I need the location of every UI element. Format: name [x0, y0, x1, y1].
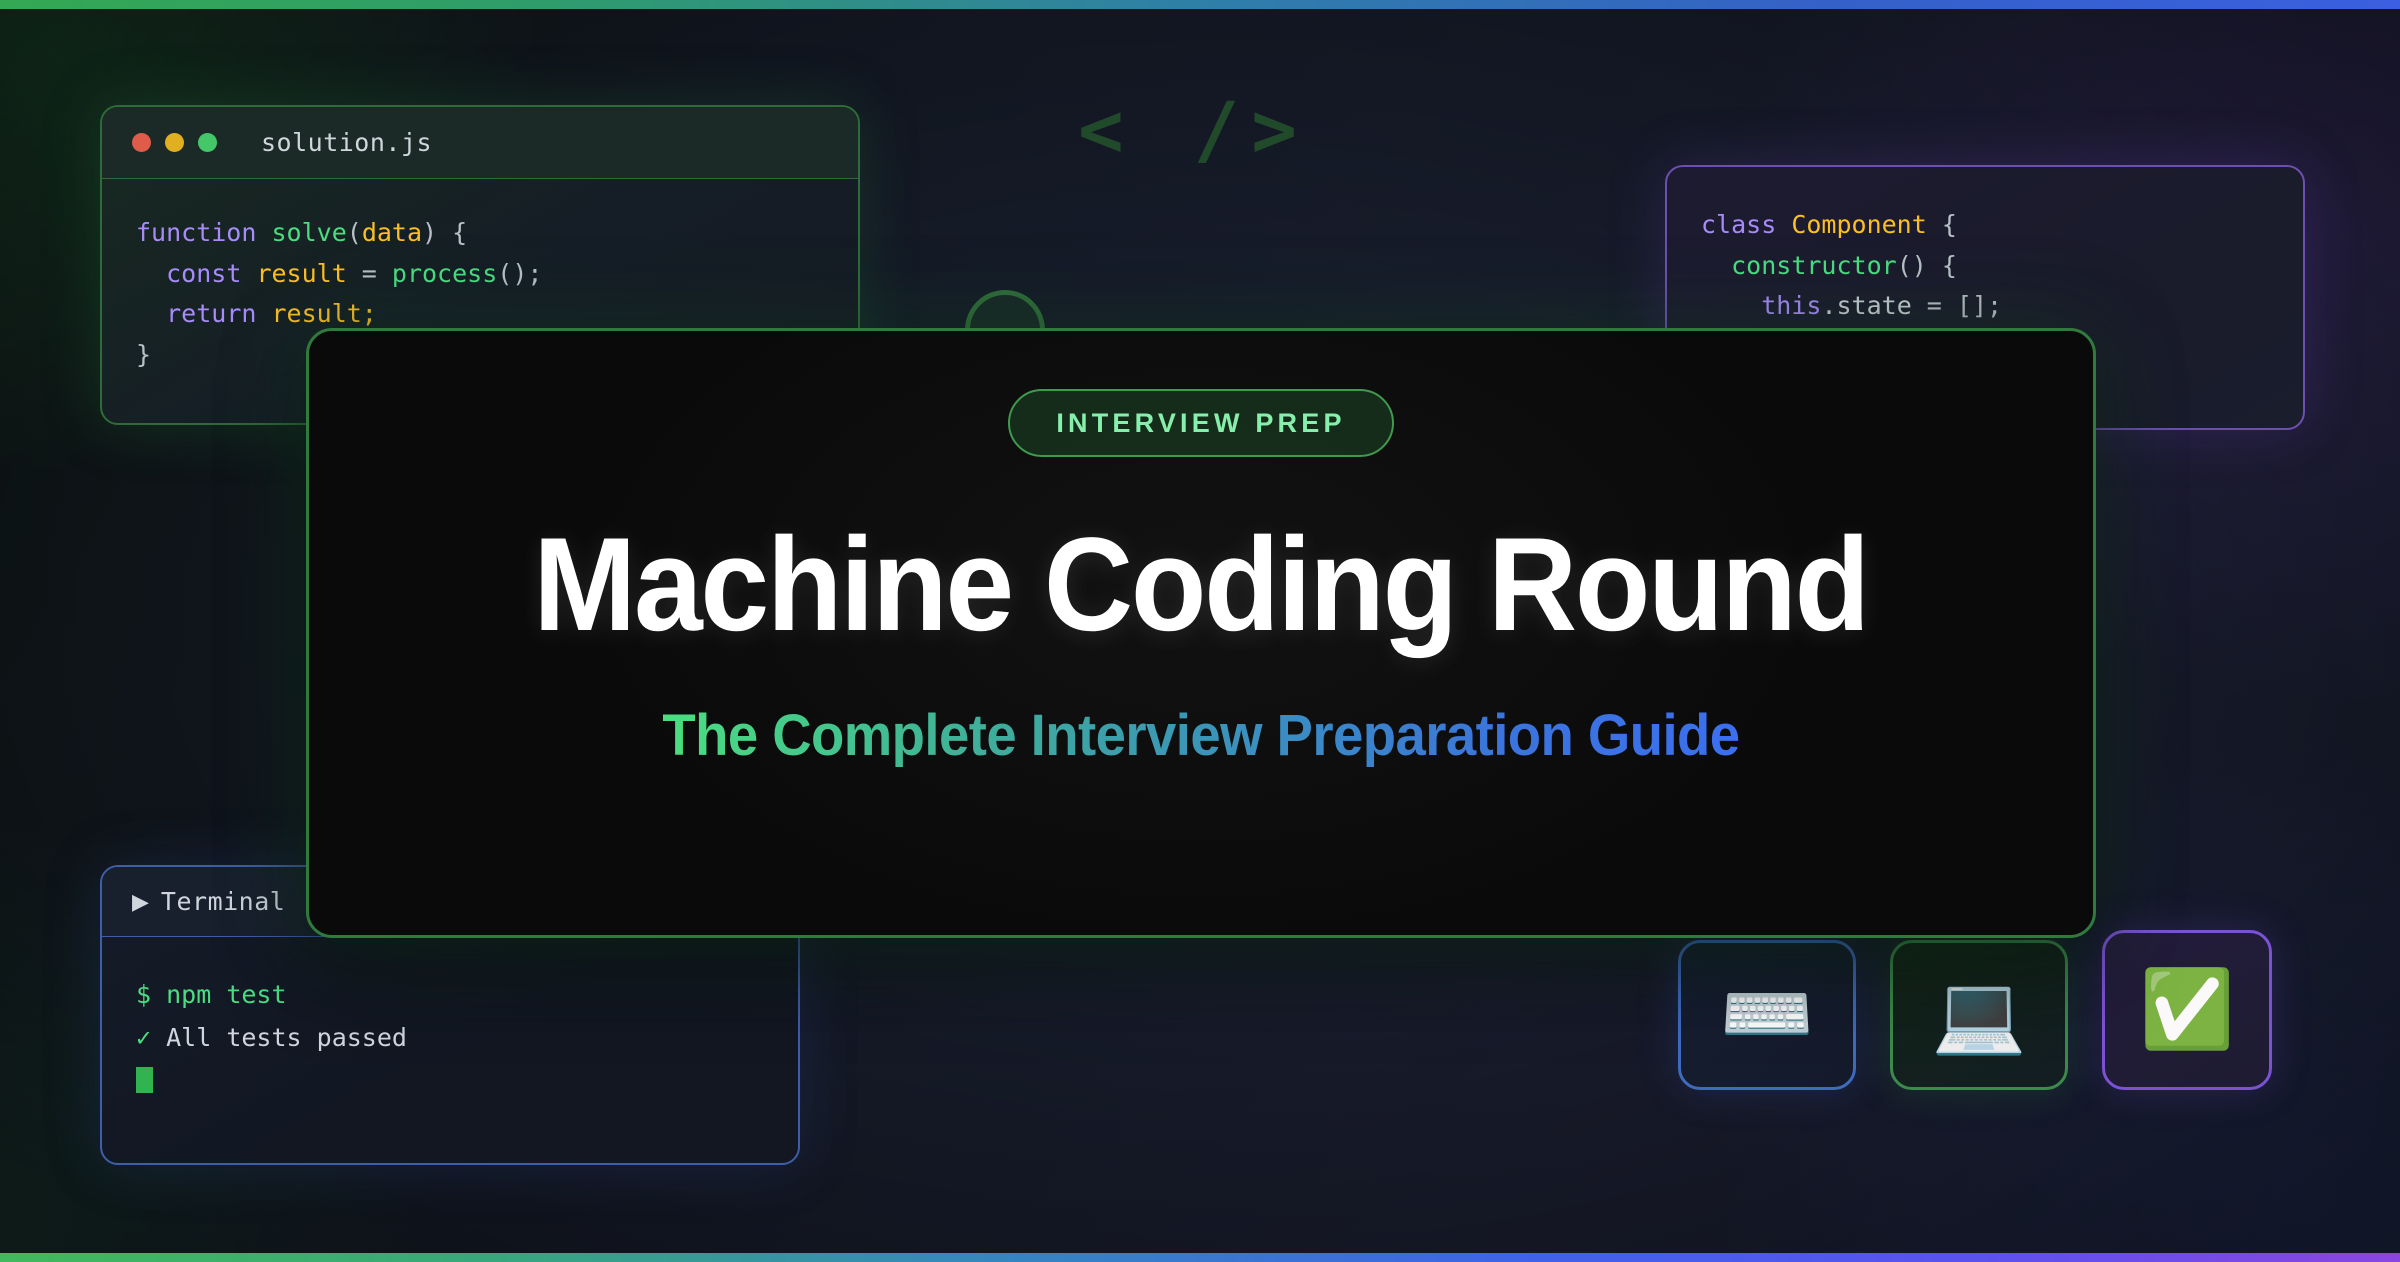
- check-mark-icon: ✅: [2140, 972, 2235, 1048]
- maximize-dot-icon[interactable]: [198, 133, 217, 152]
- code-constructor-tail: () {: [1897, 251, 1957, 280]
- terminal-command: npm test: [166, 980, 286, 1009]
- code-class-name: Component: [1791, 210, 1926, 239]
- page-subtitle: The Complete Interview Preparation Guide: [662, 702, 1739, 769]
- code-return-value: result;: [271, 299, 376, 328]
- editor-titlebar: solution.js: [102, 107, 858, 179]
- status-badge: INTERVIEW PREP: [1008, 389, 1393, 457]
- top-accent-bar: [0, 0, 2400, 9]
- code-keyword-return: return: [166, 299, 256, 328]
- code-call-tail: ();: [497, 259, 542, 288]
- code-this: this: [1761, 291, 1821, 320]
- terminal-check-icon: ✓: [136, 1023, 151, 1052]
- code-param-data: data: [362, 218, 422, 247]
- terminal-prompt: $: [136, 980, 151, 1009]
- code-keyword-const: const: [166, 259, 241, 288]
- keyboard-icon: ⌨️: [1720, 977, 1815, 1053]
- tile-keyboard[interactable]: ⌨️: [1678, 940, 1856, 1090]
- terminal-label: Terminal: [161, 887, 285, 916]
- code-fn-solve: solve: [271, 218, 346, 247]
- code-state-assign: = [];: [1912, 291, 2002, 320]
- code-state-prop: .state: [1821, 291, 1911, 320]
- play-triangle-icon[interactable]: ▶: [132, 891, 149, 913]
- terminal-output: $ npm test ✓ All tests passed: [102, 937, 798, 1138]
- page-title: Machine Coding Round: [534, 519, 1869, 652]
- code-keyword-class: class: [1701, 210, 1776, 239]
- laptop-icon: 💻: [1932, 977, 2027, 1053]
- code-paren-open: (: [347, 218, 362, 247]
- code-fn-process: process: [392, 259, 497, 288]
- code-keyword-function: function: [136, 218, 256, 247]
- terminal-cursor: [136, 1067, 153, 1093]
- tile-laptop[interactable]: 💻: [1890, 940, 2068, 1090]
- terminal-result: All tests passed: [166, 1023, 407, 1052]
- close-dot-icon[interactable]: [132, 133, 151, 152]
- code-constructor: constructor: [1731, 251, 1897, 280]
- minimize-dot-icon[interactable]: [165, 133, 184, 152]
- code-class-brace: {: [1927, 210, 1957, 239]
- tile-check[interactable]: ✅: [2102, 930, 2272, 1090]
- code-brackets-icon: < />: [1078, 85, 1309, 174]
- code-paren-close: ): [422, 218, 437, 247]
- editor-filename: solution.js: [261, 128, 432, 157]
- bottom-accent-bar: [0, 1253, 2400, 1262]
- code-var-result: result: [256, 259, 346, 288]
- code-brace-close: }: [136, 340, 151, 369]
- hero-card: INTERVIEW PREP Machine Coding Round The …: [306, 328, 2096, 938]
- code-equals: =: [347, 259, 392, 288]
- code-brace-open: {: [437, 218, 467, 247]
